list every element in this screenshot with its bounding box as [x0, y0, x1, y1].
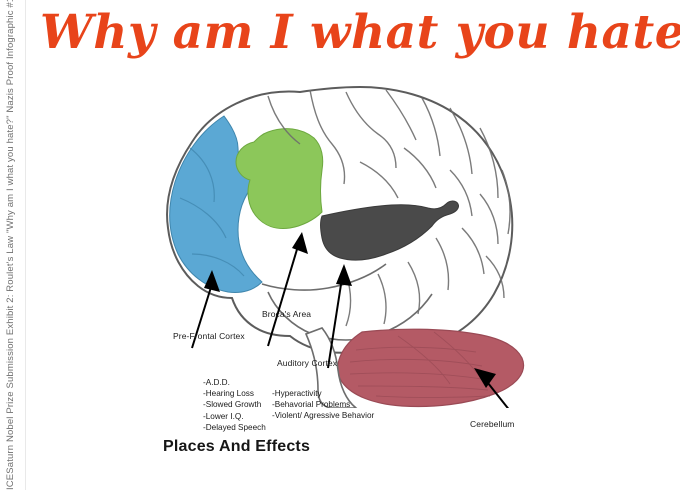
footer-heading: Places And Effects	[163, 438, 310, 456]
list-item: -Lower I.Q.	[203, 411, 266, 422]
label-cerebellum: Cerebellum	[470, 419, 514, 429]
list-item: -Delayed Speech	[203, 422, 266, 433]
list-item: -A.D.D.	[203, 377, 266, 388]
list-item: -Behavorial Problems	[272, 399, 374, 410]
label-auditory-cortex: Auditory Cortex	[277, 358, 337, 368]
page-title: Why am I what you hate?	[40, 4, 665, 62]
list-item: -Hyperactivity	[272, 388, 374, 399]
sidebar-divider	[25, 0, 26, 490]
archival-caption: ICESaturn Nobel Prize Submission Exhibit…	[1, 0, 21, 490]
brain-illustration	[150, 78, 570, 408]
list-item: -Hearing Loss	[203, 388, 266, 399]
list-item: -Slowed Growth	[203, 399, 266, 410]
effects-list-right: -Hyperactivity -Behavorial Problems -Vio…	[272, 388, 374, 422]
infographic-page: ICESaturn Nobel Prize Submission Exhibit…	[0, 0, 680, 490]
brain-diagram	[150, 78, 570, 408]
label-pre-frontal-cortex: Pre-Frontal Cortex	[173, 331, 245, 341]
list-item: -Violent/ Agressive Behavior	[272, 410, 374, 421]
label-brocas-area: Broca's Area	[262, 309, 311, 319]
effects-list-left: -A.D.D. -Hearing Loss -Slowed Growth -Lo…	[203, 377, 266, 433]
